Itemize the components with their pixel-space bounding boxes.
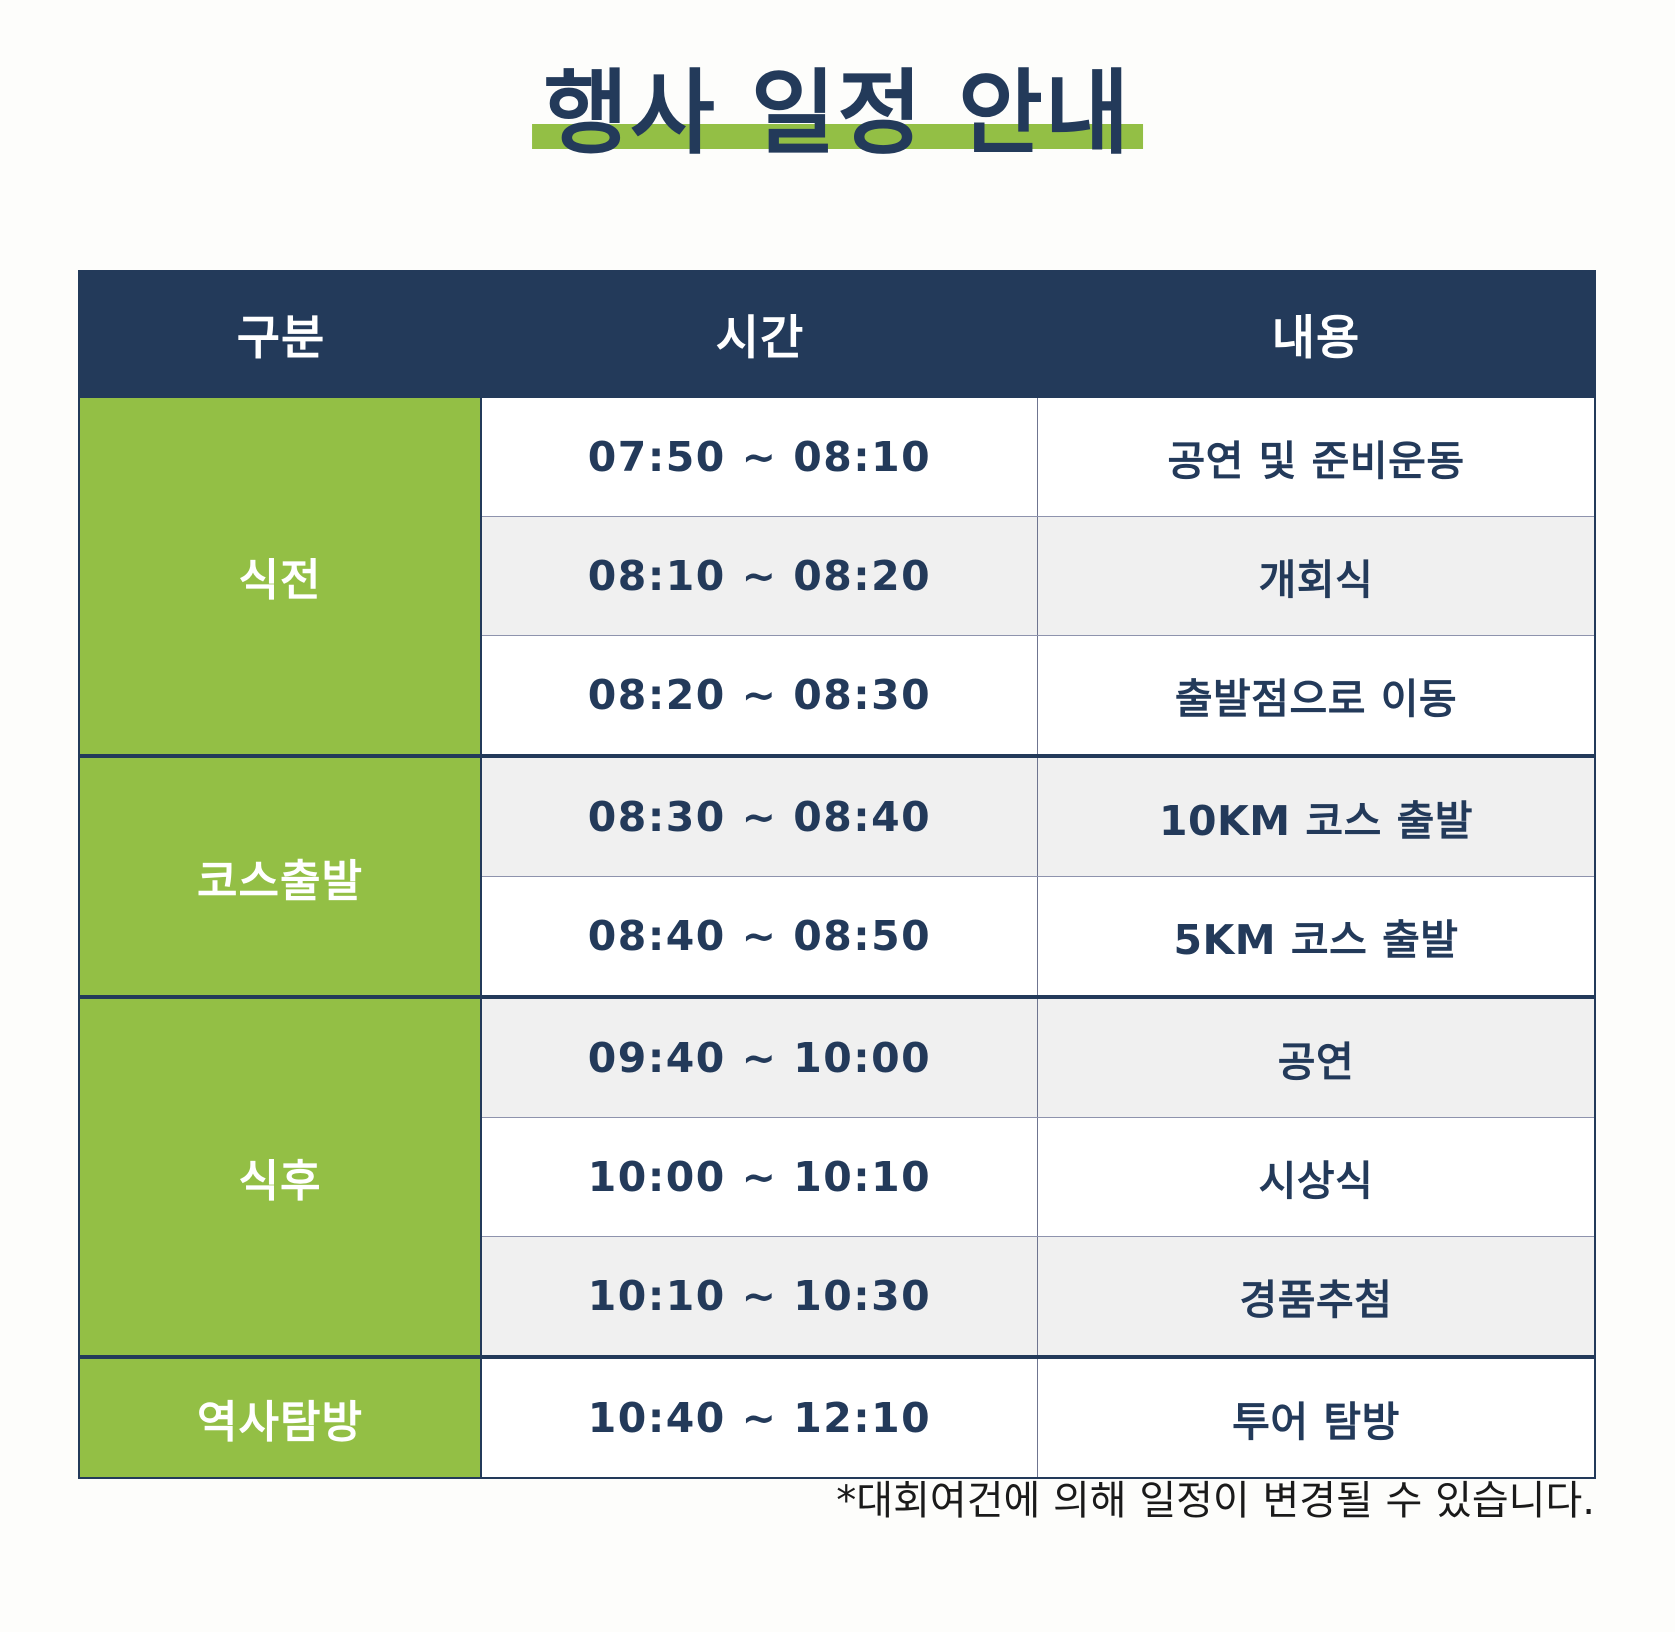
group-rows-3: 10:40 ~ 12:10 투어 탐방 xyxy=(482,1359,1594,1477)
cell-content: 투어 탐방 xyxy=(1038,1359,1594,1477)
header-content: 내용 xyxy=(1038,272,1594,394)
cell-content: 공연 및 준비운동 xyxy=(1038,398,1594,516)
cell-content: 개회식 xyxy=(1038,517,1594,635)
group-rows-0: 07:50 ~ 08:10 공연 및 준비운동 08:10 ~ 08:20 개회… xyxy=(482,398,1594,754)
table-row: 09:40 ~ 10:00 공연 xyxy=(482,999,1594,1117)
cell-time: 08:20 ~ 08:30 xyxy=(482,636,1038,754)
cell-time: 10:40 ~ 12:10 xyxy=(482,1359,1038,1477)
footnote-text: *대회여건에 의해 일정이 변경될 수 있습니다. xyxy=(836,1468,1595,1526)
header-time: 시간 xyxy=(482,272,1038,394)
table-row: 08:40 ~ 08:50 5KM 코스 출발 xyxy=(482,876,1594,995)
cell-time: 09:40 ~ 10:00 xyxy=(482,999,1038,1117)
group-label-2: 식후 xyxy=(80,999,482,1355)
cell-content: 시상식 xyxy=(1038,1118,1594,1236)
table-group: 식전 07:50 ~ 08:10 공연 및 준비운동 08:10 ~ 08:20… xyxy=(80,394,1594,754)
group-rows-2: 09:40 ~ 10:00 공연 10:00 ~ 10:10 시상식 10:10… xyxy=(482,999,1594,1355)
cell-time: 10:00 ~ 10:10 xyxy=(482,1118,1038,1236)
title-group: 행사 일정 안내 xyxy=(526,62,1150,165)
table-row: 08:20 ~ 08:30 출발점으로 이동 xyxy=(482,635,1594,754)
cell-content: 출발점으로 이동 xyxy=(1038,636,1594,754)
cell-content: 공연 xyxy=(1038,999,1594,1117)
group-rows-1: 08:30 ~ 08:40 10KM 코스 출발 08:40 ~ 08:50 5… xyxy=(482,758,1594,995)
table-row: 10:40 ~ 12:10 투어 탐방 xyxy=(482,1359,1594,1477)
cell-content: 10KM 코스 출발 xyxy=(1038,758,1594,876)
table-row: 10:00 ~ 10:10 시상식 xyxy=(482,1117,1594,1236)
table-row: 08:10 ~ 08:20 개회식 xyxy=(482,516,1594,635)
cell-time: 08:40 ~ 08:50 xyxy=(482,877,1038,995)
header-category: 구분 xyxy=(80,272,482,394)
table-header-row: 구분 시간 내용 xyxy=(80,272,1594,394)
page-title: 행사 일정 안내 xyxy=(526,62,1150,165)
cell-content: 경품추첨 xyxy=(1038,1237,1594,1355)
page-header: 행사 일정 안내 xyxy=(0,62,1675,212)
table-group: 식후 09:40 ~ 10:00 공연 10:00 ~ 10:10 시상식 10… xyxy=(80,995,1594,1355)
group-label-3: 역사탐방 xyxy=(80,1359,482,1477)
table-row: 08:30 ~ 08:40 10KM 코스 출발 xyxy=(482,758,1594,876)
cell-time: 10:10 ~ 10:30 xyxy=(482,1237,1038,1355)
cell-content: 5KM 코스 출발 xyxy=(1038,877,1594,995)
group-label-1: 코스출발 xyxy=(80,758,482,995)
table-group: 역사탐방 10:40 ~ 12:10 투어 탐방 xyxy=(80,1355,1594,1477)
cell-time: 08:10 ~ 08:20 xyxy=(482,517,1038,635)
cell-time: 08:30 ~ 08:40 xyxy=(482,758,1038,876)
group-label-0: 식전 xyxy=(80,398,482,754)
table-row: 07:50 ~ 08:10 공연 및 준비운동 xyxy=(482,398,1594,516)
table-group: 코스출발 08:30 ~ 08:40 10KM 코스 출발 08:40 ~ 08… xyxy=(80,754,1594,995)
cell-time: 07:50 ~ 08:10 xyxy=(482,398,1038,516)
schedule-table: 구분 시간 내용 식전 07:50 ~ 08:10 공연 및 준비운동 08:1… xyxy=(78,270,1596,1479)
table-row: 10:10 ~ 10:30 경품추첨 xyxy=(482,1236,1594,1355)
